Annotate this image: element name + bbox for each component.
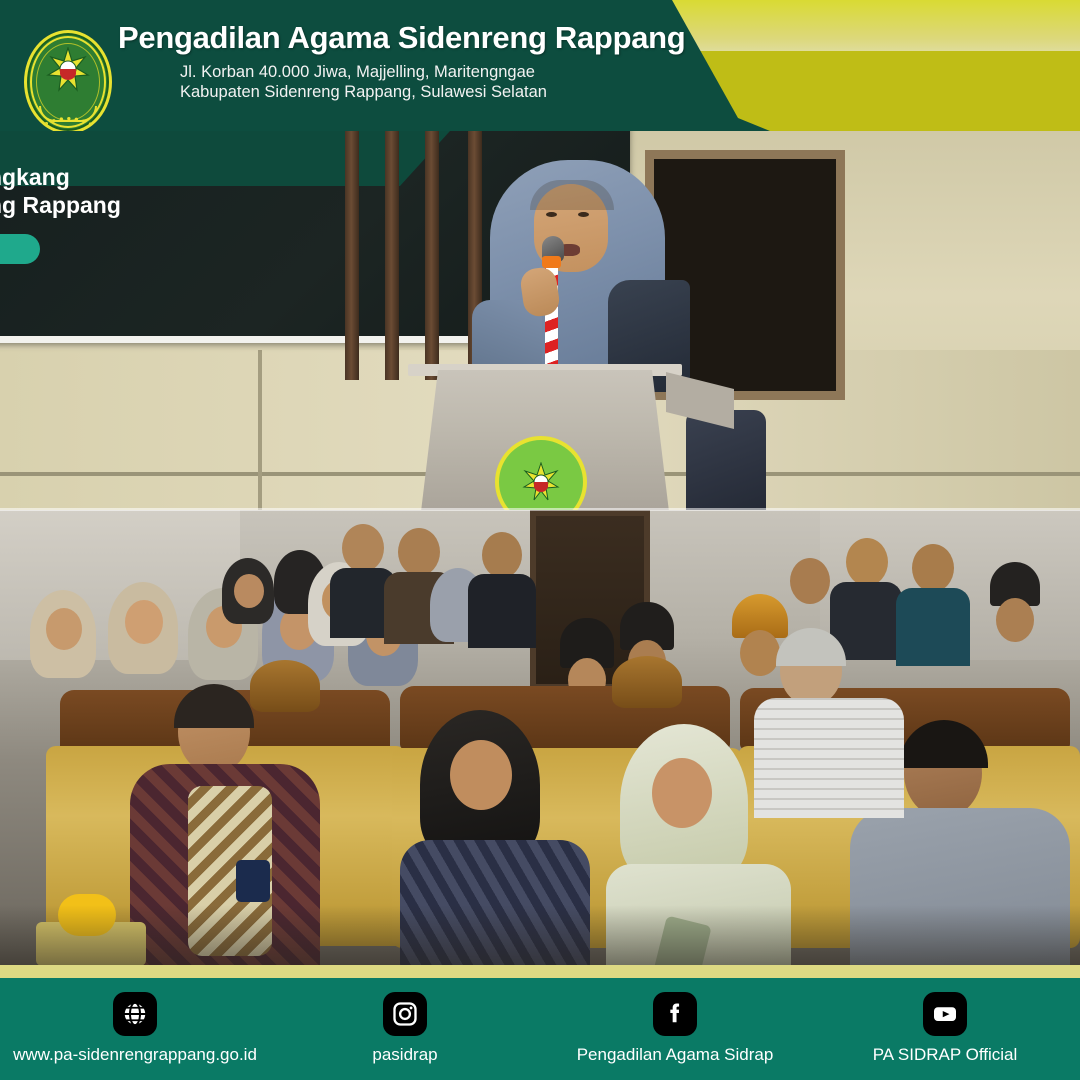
person-face [846,538,888,586]
wood-strip-1 [345,120,359,380]
page-footer: www.pa-sidenrengrappang.go.id pasidrap [0,978,1080,1080]
banner-text-line1: ngkang [0,164,70,191]
wood-strip-2 [385,120,399,380]
youtube-icon[interactable] [923,992,967,1036]
page-header: Pengadilan Agama Sidenreng Rappang Jl. K… [0,0,1080,131]
person-face [46,608,82,650]
sofa-carving-mid [612,656,682,708]
microphone-band [542,256,561,268]
speaker-eye-left [546,212,557,217]
social-label-website: www.pa-sidenrengrappang.go.id [13,1045,257,1065]
footer-divider [0,965,1080,978]
person-face [234,574,264,608]
logo-oval [24,30,112,131]
facebook-icon[interactable] [653,992,697,1036]
banner-pill-shape [0,234,40,264]
person-face [482,532,522,578]
speaker-at-podium-photo: ngkang ng Rappang [0,120,1080,510]
header-text-block: Pengadilan Agama Sidenreng Rappang Jl. K… [118,22,685,102]
address-line-1: Jl. Korban 40.000 Jiwa, Majjelling, Mari… [180,62,685,82]
social-link-youtube[interactable]: PA SIDRAP Official [810,978,1080,1080]
banner-text-line2: ng Rappang [0,192,121,219]
sofa-carving-left [250,660,320,712]
logo-ribbon [39,106,97,122]
person-body [896,588,970,666]
photo-separator [0,508,1080,511]
logo-star-icon [45,47,91,93]
address-line-2: Kabupaten Sidenreng Rappang, Sulawesi Se… [180,82,685,102]
person-face [125,600,163,644]
social-link-website[interactable]: www.pa-sidenrengrappang.go.id [0,978,270,1080]
person-face [652,758,712,828]
social-label-instagram: pasidrap [372,1045,437,1065]
person-face [790,558,830,604]
person-phone [236,860,270,902]
instagram-icon[interactable] [383,992,427,1036]
court-emblem-logo [24,30,112,131]
speaker-eye-right [578,212,589,217]
person-face [342,524,384,572]
photo-stack: ngkang ng Rappang [0,0,1080,970]
wall-seam-v [258,350,262,510]
person-face [996,598,1034,642]
globe-icon[interactable] [113,992,157,1036]
person-checked-shirt [754,698,904,818]
audience-seated-photo [0,510,1080,965]
poster-canvas: ngkang ng Rappang [0,0,1080,1080]
floor-shadow [0,905,1080,965]
person-face [398,528,440,576]
social-link-facebook[interactable]: Pengadilan Agama Sidrap [540,978,810,1080]
social-label-youtube: PA SIDRAP Official [873,1045,1018,1065]
wood-strip-3 [425,120,439,380]
social-link-instagram[interactable]: pasidrap [270,978,540,1080]
page-title: Pengadilan Agama Sidenreng Rappang [118,22,685,55]
speaker-person [490,160,690,390]
person-face [740,630,780,676]
social-label-facebook: Pengadilan Agama Sidrap [577,1045,774,1065]
person-body [468,574,536,648]
person-face [450,740,512,810]
person-face [912,544,954,592]
social-links-row: www.pa-sidenrengrappang.go.id pasidrap [0,978,1080,1080]
emblem-star-icon [521,462,561,502]
